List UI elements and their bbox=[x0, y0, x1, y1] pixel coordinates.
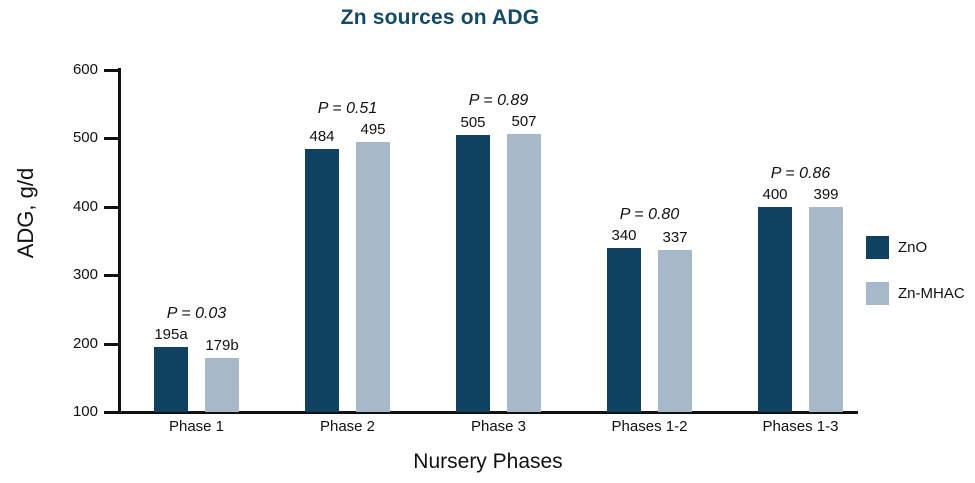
bar-value-label: 195a bbox=[142, 327, 200, 343]
x-axis-label-phases-1-2: Phases 1-2 bbox=[585, 418, 715, 435]
bar-zn-mhac-phases-1-3[interactable] bbox=[809, 207, 843, 412]
legend-swatch-icon bbox=[866, 236, 889, 259]
y-axis-tick bbox=[104, 411, 118, 414]
x-axis-label-phase-2: Phase 2 bbox=[283, 418, 413, 435]
y-axis-title: ADG, g/d bbox=[13, 123, 39, 303]
bar-zn-mhac-phase-1[interactable] bbox=[205, 358, 239, 412]
legend-item-zno[interactable]: ZnO bbox=[866, 236, 927, 259]
y-axis-tick-value: 300 bbox=[52, 267, 98, 282]
y-axis-tick bbox=[104, 343, 118, 346]
y-axis-tick-label: 300 bbox=[48, 267, 98, 283]
legend-item-zn-mhac[interactable]: Zn-MHAC bbox=[866, 282, 965, 305]
bar-value-label: 484 bbox=[293, 129, 351, 145]
y-axis-tick-label: 200 bbox=[48, 336, 98, 352]
bar-zno-phases-1-3[interactable] bbox=[758, 207, 792, 412]
legend-swatch-icon bbox=[866, 282, 889, 305]
y-axis-tick bbox=[104, 137, 118, 140]
p-value-annotation: P = 0.89 bbox=[439, 92, 559, 109]
bar-value-label: 179b bbox=[193, 338, 251, 354]
plot-area: 195a179bP = 0.03484495P = 0.51505507P = … bbox=[118, 70, 855, 412]
p-value-annotation: P = 0.86 bbox=[741, 165, 861, 182]
y-axis-tick-value: 200 bbox=[52, 336, 98, 351]
y-axis-tick-value: 100 bbox=[52, 404, 98, 419]
y-axis-tick-value: 500 bbox=[52, 130, 98, 145]
bar-value-label: 507 bbox=[495, 114, 553, 130]
y-axis-tick-label: 600 bbox=[48, 62, 98, 78]
bar-zno-phases-1-2[interactable] bbox=[607, 248, 641, 412]
x-axis-label-phase-1: Phase 1 bbox=[132, 418, 262, 435]
y-axis-tick-value: 400 bbox=[52, 199, 98, 214]
bar-zno-phase-3[interactable] bbox=[456, 135, 490, 412]
bar-value-label: 400 bbox=[746, 187, 804, 203]
p-value-annotation: P = 0.03 bbox=[137, 305, 257, 322]
bar-zno-phase-1[interactable] bbox=[154, 347, 188, 412]
bar-zn-mhac-phase-2[interactable] bbox=[356, 142, 390, 412]
y-axis-tick bbox=[104, 69, 118, 72]
bar-zno-phase-2[interactable] bbox=[305, 149, 339, 412]
x-axis-label-phase-3: Phase 3 bbox=[434, 418, 564, 435]
y-axis-tick-label: 400 bbox=[48, 199, 98, 215]
legend-label: Zn-MHAC bbox=[898, 286, 965, 302]
legend-label: ZnO bbox=[898, 240, 927, 256]
y-axis-tick-label: 500 bbox=[48, 130, 98, 146]
bar-value-label: 399 bbox=[797, 187, 855, 203]
chart-title: Zn sources on ADG bbox=[0, 6, 880, 30]
x-axis-title: Nursery Phases bbox=[118, 450, 858, 474]
y-axis-tick bbox=[104, 206, 118, 209]
y-axis-tick bbox=[104, 274, 118, 277]
bar-zn-mhac-phase-3[interactable] bbox=[507, 134, 541, 412]
p-value-annotation: P = 0.80 bbox=[590, 206, 710, 223]
y-axis-tick-value: 600 bbox=[52, 62, 98, 77]
bar-value-label: 337 bbox=[646, 230, 704, 246]
p-value-annotation: P = 0.51 bbox=[288, 100, 408, 117]
x-axis-label-phases-1-3: Phases 1-3 bbox=[736, 418, 866, 435]
bar-zn-mhac-phases-1-2[interactable] bbox=[658, 250, 692, 412]
bar-value-label: 340 bbox=[595, 228, 653, 244]
bar-value-label: 505 bbox=[444, 115, 502, 131]
y-axis-tick-label: 100 bbox=[48, 404, 98, 420]
bar-value-label: 495 bbox=[344, 122, 402, 138]
